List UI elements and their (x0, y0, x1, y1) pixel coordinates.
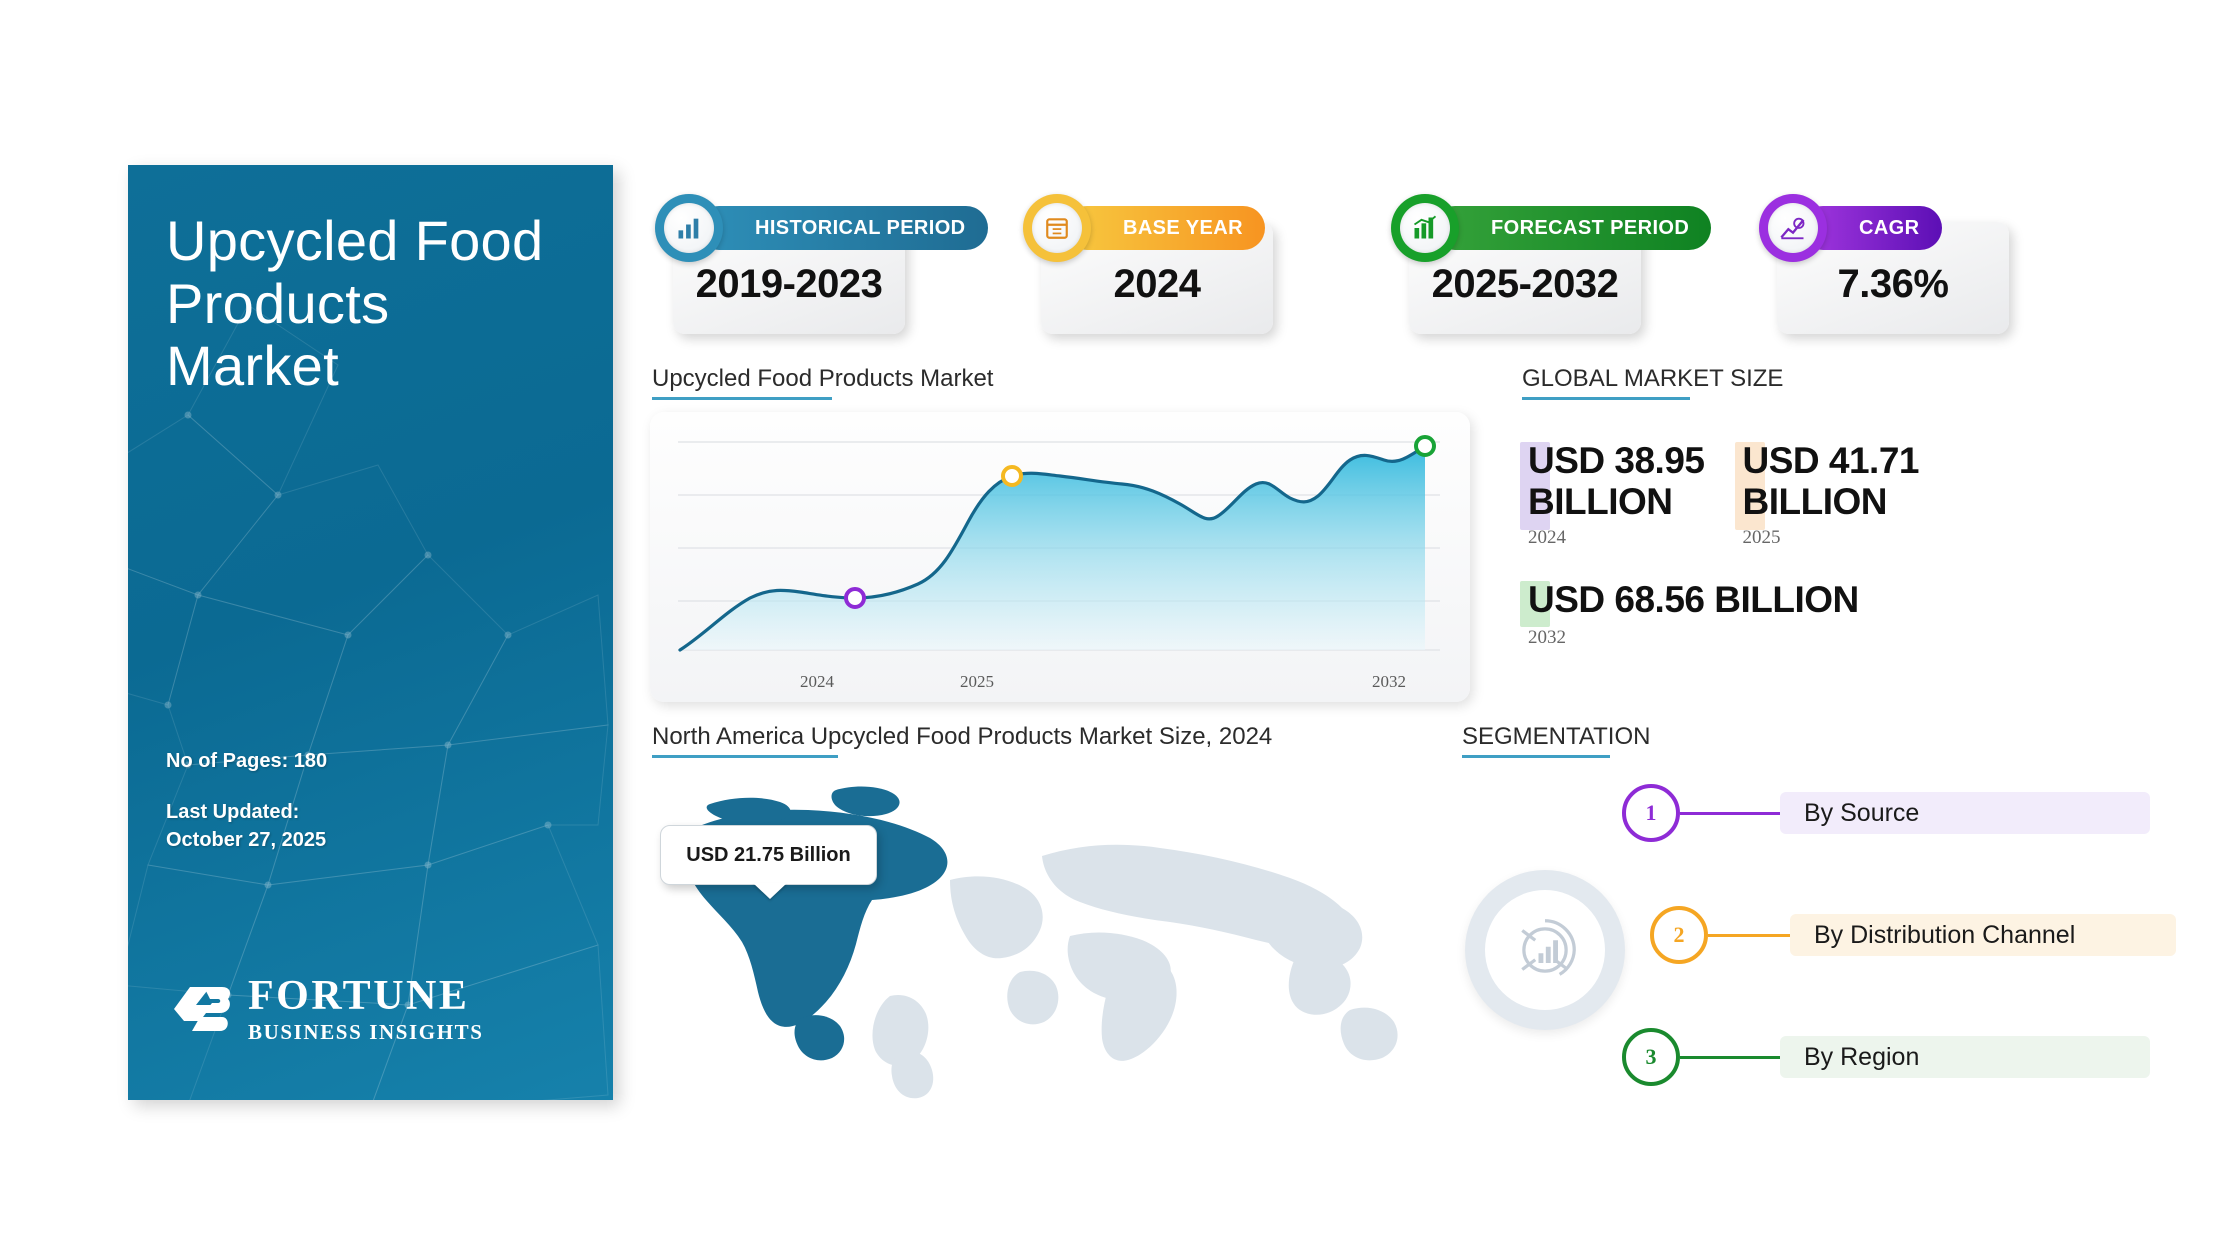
segmentation-item-by-source[interactable]: 1 By Source (1622, 784, 2150, 842)
chart-heading: Upcycled Food Products Market (652, 365, 993, 400)
chart-xtick-2024: 2024 (800, 672, 834, 692)
badge-pill: FORECAST PERIOD (1433, 206, 1711, 250)
figure-year: 2024 (1520, 527, 1705, 549)
chart-xtick-2025: 2025 (960, 672, 994, 692)
segmentation-item-by-region[interactable]: 3 By Region (1622, 1028, 2150, 1086)
figure-amount: USD 38.95 BILLION (1520, 440, 1705, 523)
heading-underline (652, 755, 838, 758)
badge-value: 7.36% (1777, 262, 2009, 307)
segmentation-diagram: 1 By Source 2 By Distribution Channel 3 … (1460, 760, 2140, 1090)
donut-chart-icon (1506, 911, 1584, 989)
segment-number: 2 (1650, 906, 1708, 964)
figure-amount-line2: BILLION (1528, 481, 1705, 522)
badge-pill: HISTORICAL PERIOD (697, 206, 988, 250)
badge-icon-ring (655, 194, 723, 262)
segmentation-center (1465, 870, 1625, 1030)
market-figure-2032: USD 68.56 BILLION 2032 (1520, 579, 2120, 649)
north-america-callout: USD 21.75 Billion (660, 825, 877, 885)
badge-label: HISTORICAL PERIOD (755, 217, 966, 240)
segment-number: 1 (1622, 784, 1680, 842)
chart-svg (650, 412, 1470, 702)
market-trend-chart (650, 412, 1470, 702)
callout-value: USD 21.75 Billion (686, 844, 851, 867)
badge-icon-ring (1023, 194, 1091, 262)
figure-year: 2032 (1520, 627, 2120, 649)
segment-connector (1680, 812, 1780, 815)
calendar-icon (1044, 215, 1070, 241)
map-heading: North America Upcycled Food Products Mar… (652, 723, 1272, 758)
badge-label: CAGR (1859, 217, 1920, 240)
chart-marker-2032 (1416, 437, 1434, 455)
chart-marker-2024 (846, 589, 864, 607)
last-updated-label: Last Updated: (166, 799, 326, 827)
figure-amount-line2: BILLION (1743, 481, 1920, 522)
global-market-size-figures: USD 38.95 BILLION 2024 USD 41.71 BILLION… (1520, 440, 2120, 649)
badge-icon-ring (1391, 194, 1459, 262)
page-count: No of Pages: 180 (166, 748, 327, 776)
segment-label: By Distribution Channel (1790, 914, 2176, 956)
forecast-chart-icon (1411, 214, 1439, 242)
segment-connector (1708, 934, 1790, 937)
badge-icon-ring (1759, 194, 1827, 262)
world-map-svg (650, 760, 1480, 1100)
figure-amount-line1: USD 38.95 (1528, 440, 1705, 481)
figure-amount-line1: USD 41.71 (1743, 440, 1920, 481)
badge-label: BASE YEAR (1123, 217, 1243, 240)
badge-cagr: CAGR 7.36% (1749, 206, 2009, 334)
badge-label: FORECAST PERIOD (1491, 217, 1689, 240)
last-updated: Last Updated: October 27, 2025 (166, 799, 326, 854)
logo-top-text: FORTUNE (248, 975, 484, 1017)
badge-forecast-period: FORECAST PERIOD 2025-2032 (1381, 206, 1641, 334)
heading-underline (1462, 755, 1610, 758)
segment-label: By Region (1780, 1036, 2150, 1078)
page-title: Upcycled Food Products Market (166, 210, 566, 398)
figure-amount: USD 68.56 BILLION (1520, 579, 2120, 621)
badge-historical-period: HISTORICAL PERIOD 2019-2023 (645, 206, 905, 334)
badge-value: 2019-2023 (673, 262, 905, 307)
market-figure-2024: USD 38.95 BILLION 2024 (1520, 440, 1705, 549)
logo-wordmark: FORTUNE BUSINESS INSIGHTS (248, 975, 484, 1043)
stat-badges: HISTORICAL PERIOD 2019-2023 BASE YEAR (645, 178, 2115, 348)
badge-value: 2025-2032 (1409, 262, 1641, 307)
infographic-canvas: Upcycled Food Products Market No of Page… (0, 0, 2240, 1260)
badge-pill: BASE YEAR (1065, 206, 1265, 250)
segment-label: By Source (1780, 792, 2150, 834)
bar-chart-icon (675, 214, 703, 242)
last-updated-date: October 27, 2025 (166, 827, 326, 855)
badge-base-year: BASE YEAR 2024 (1013, 206, 1273, 334)
segment-connector (1680, 1056, 1780, 1059)
market-figure-2025: USD 41.71 BILLION 2025 (1735, 440, 1920, 549)
fortune-business-insights-logo: FORTUNE BUSINESS INSIGHTS (170, 975, 484, 1043)
left-title-panel: Upcycled Food Products Market No of Page… (128, 165, 613, 1100)
chart-heading-text: Upcycled Food Products Market (652, 365, 993, 392)
figure-year: 2025 (1735, 527, 1920, 549)
map-heading-text: North America Upcycled Food Products Mar… (652, 723, 1272, 750)
segmentation-heading: SEGMENTATION (1462, 723, 1650, 758)
logo-bottom-text: BUSINESS INSIGHTS (248, 1022, 484, 1043)
heading-underline (1522, 397, 1690, 400)
world-map: USD 21.75 Billion (650, 760, 1480, 1100)
figure-amount: USD 41.71 BILLION (1735, 440, 1920, 523)
global-market-size-heading-text: GLOBAL MARKET SIZE (1522, 365, 1783, 392)
chart-marker-2025 (1003, 467, 1021, 485)
growth-analytics-icon (1779, 214, 1807, 242)
segmentation-item-by-distribution-channel[interactable]: 2 By Distribution Channel (1650, 906, 2176, 964)
segmentation-heading-text: SEGMENTATION (1462, 723, 1650, 750)
market-size-row: USD 38.95 BILLION 2024 USD 41.71 BILLION… (1520, 440, 2120, 549)
chart-xtick-2032: 2032 (1372, 672, 1406, 692)
heading-underline (652, 397, 832, 400)
global-market-size-heading: GLOBAL MARKET SIZE (1522, 365, 1783, 400)
fb-monogram-icon (170, 983, 234, 1035)
segment-number: 3 (1622, 1028, 1680, 1086)
badge-value: 2024 (1041, 262, 1273, 307)
